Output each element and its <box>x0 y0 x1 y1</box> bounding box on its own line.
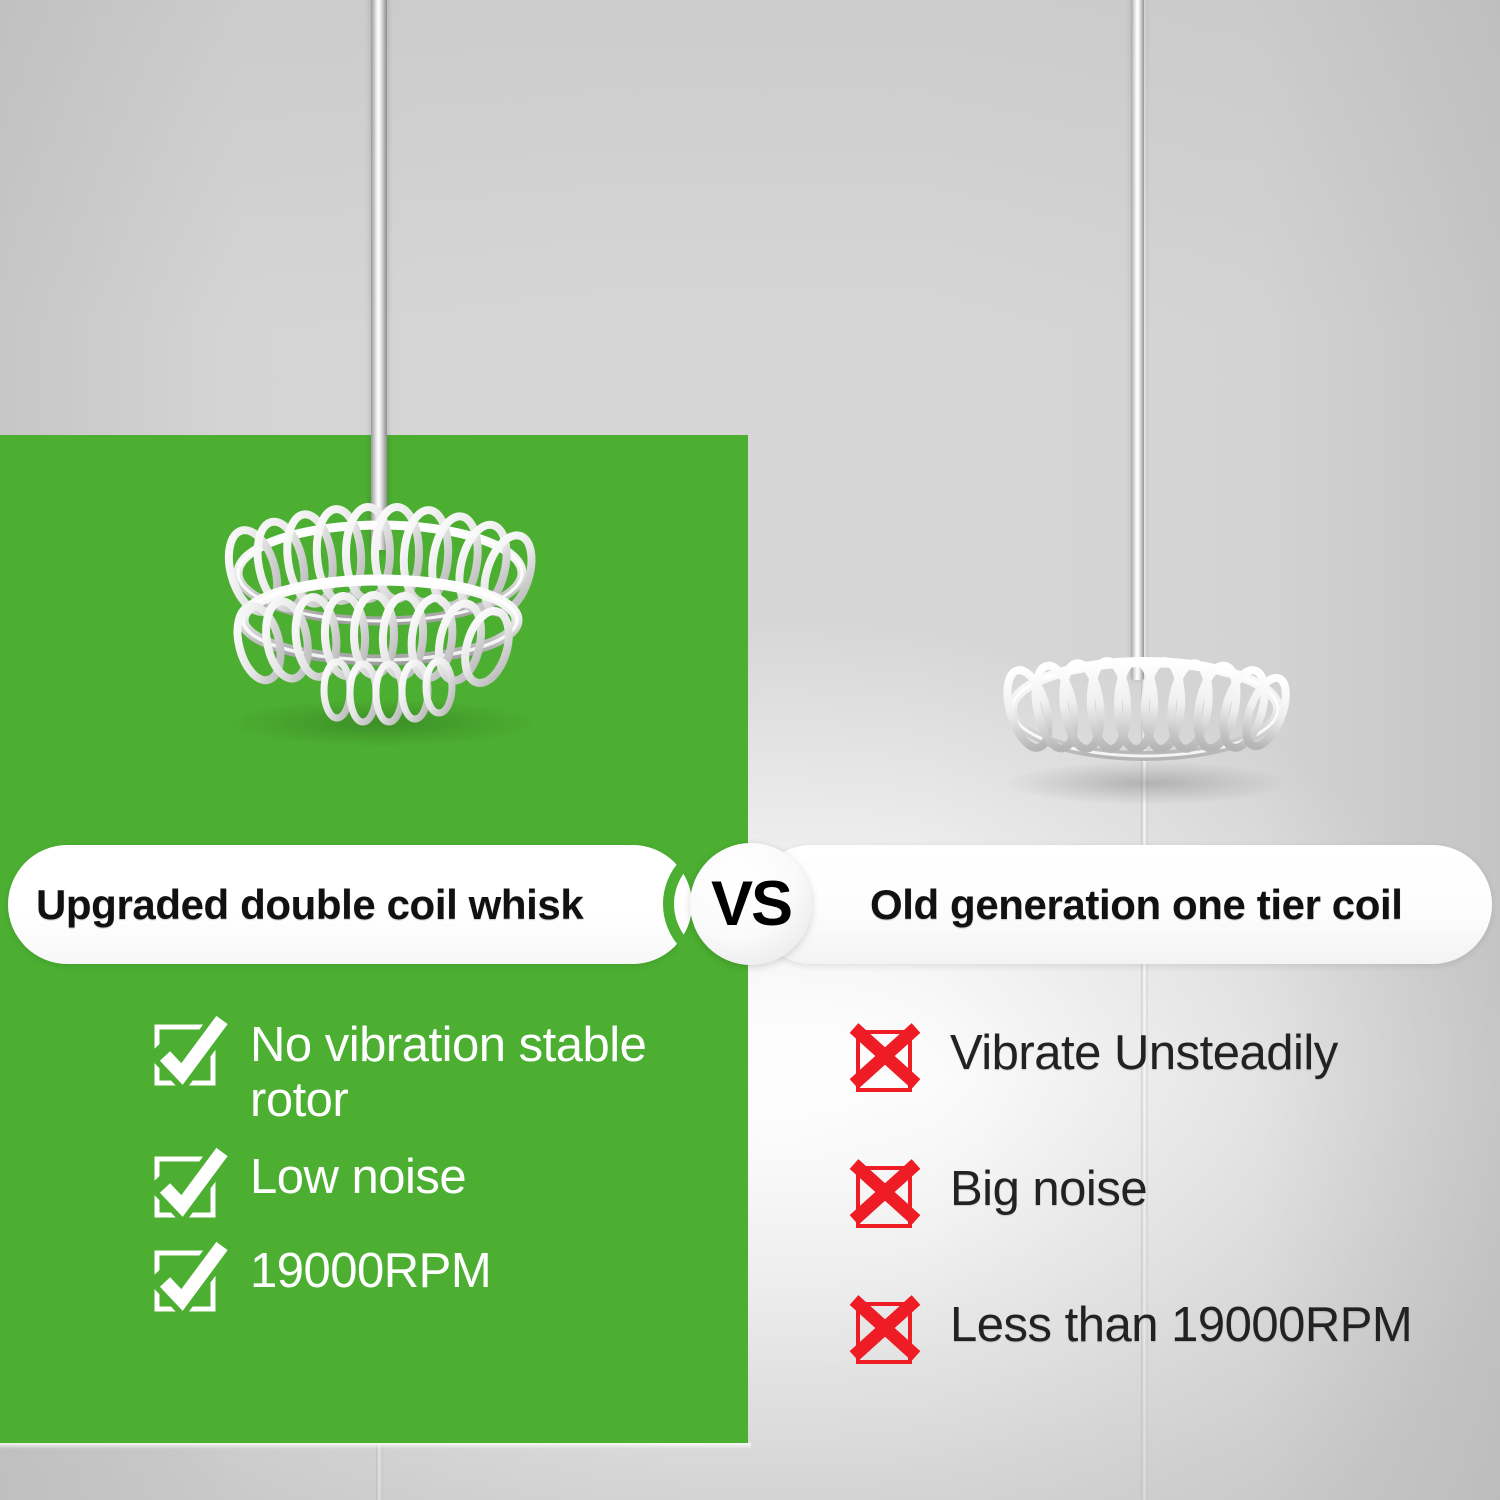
checkbox-crossed-icon <box>852 1022 926 1096</box>
list-item-label: Less than 19000RPM <box>950 1294 1412 1353</box>
list-item-label: 19000RPM <box>250 1242 491 1299</box>
list-item-label: Low noise <box>250 1148 466 1205</box>
list-item-label: Vibrate Unsteadily <box>950 1022 1338 1081</box>
vs-badge-icon: VS <box>690 843 812 965</box>
left-feature-list: No vibration stable rotor Low noise <box>152 1016 712 1316</box>
left-title-pill: Upgraded double coil whisk <box>8 845 692 964</box>
checkbox-crossed-icon <box>852 1158 926 1232</box>
list-item-label: Big noise <box>950 1158 1147 1217</box>
vs-label: VS <box>711 873 791 936</box>
single-coil-whisk-icon <box>1000 645 1290 780</box>
right-product-title: Old generation one tier coil <box>870 881 1403 929</box>
double-coil-whisk-icon <box>215 495 545 740</box>
product-comparison-image: Upgraded double coil whisk Old generatio… <box>0 0 1500 1500</box>
left-product-title: Upgraded double coil whisk <box>36 881 583 929</box>
list-item: Less than 19000RPM <box>852 1294 1492 1368</box>
list-item: Low noise <box>152 1148 712 1222</box>
right-feature-list: Vibrate Unsteadily Big noise Less th <box>852 1022 1492 1368</box>
right-title-pill: Old generation one tier coil <box>752 845 1492 964</box>
checkbox-checked-icon <box>152 1242 226 1316</box>
left-whisk-shaft <box>371 0 387 550</box>
list-item: No vibration stable rotor <box>152 1016 712 1128</box>
list-item-label: No vibration stable rotor <box>250 1016 670 1128</box>
checkbox-checked-icon <box>152 1148 226 1222</box>
checkbox-crossed-icon <box>852 1294 926 1368</box>
checkbox-checked-icon <box>152 1016 226 1090</box>
list-item: 19000RPM <box>152 1242 712 1316</box>
list-item: Big noise <box>852 1158 1492 1232</box>
list-item: Vibrate Unsteadily <box>852 1022 1492 1096</box>
right-whisk-shaft <box>1131 0 1144 680</box>
